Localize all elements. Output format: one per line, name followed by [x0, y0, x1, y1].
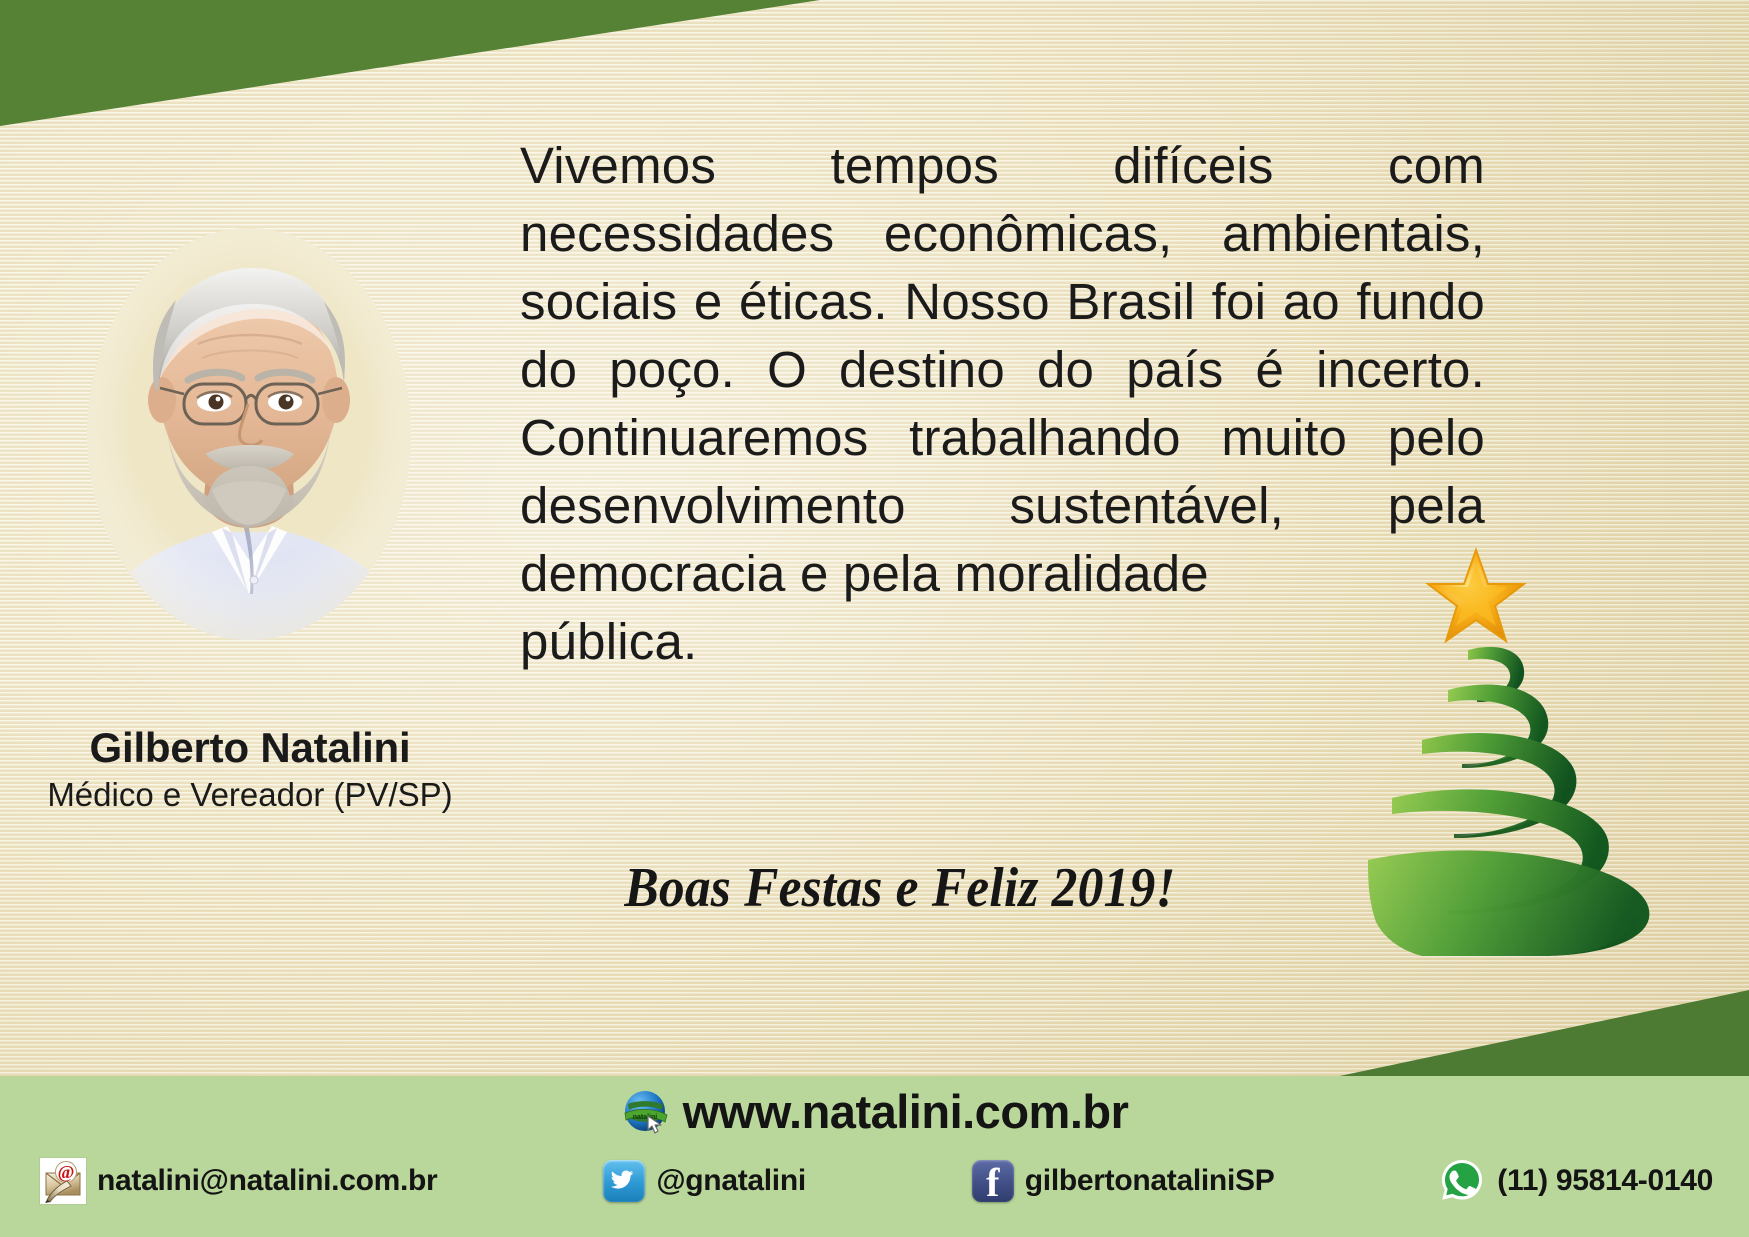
portrait-photo: [72, 228, 427, 648]
whatsapp-icon: [1440, 1158, 1486, 1204]
greeting-text: Boas Festas e Feliz 2019!: [550, 856, 1249, 920]
svg-text:@: @: [58, 1162, 75, 1182]
twitter-handle[interactable]: @gnatalini: [656, 1164, 806, 1198]
whatsapp-number[interactable]: (11) 95814-0140: [1497, 1164, 1713, 1198]
greeting-card: Gilberto Natalini Médico e Vereador (PV/…: [0, 0, 1749, 1237]
facebook-icon: f: [972, 1160, 1014, 1202]
globe-icon: natalini: [621, 1087, 671, 1137]
contact-facebook[interactable]: f gilbertonataliniSP: [972, 1160, 1275, 1202]
facebook-page[interactable]: gilbertonataliniSP: [1025, 1164, 1275, 1198]
person-name: Gilberto Natalini: [0, 724, 500, 772]
twitter-icon: [603, 1160, 645, 1202]
contact-twitter[interactable]: @gnatalini: [603, 1160, 806, 1202]
contact-whatsapp[interactable]: (11) 95814-0140: [1440, 1158, 1713, 1204]
footer-bar: natalini www.natalini.com.br: [0, 1076, 1749, 1237]
email-address[interactable]: natalini@natalini.com.br: [97, 1164, 437, 1198]
website-row[interactable]: natalini www.natalini.com.br: [0, 1084, 1749, 1139]
christmas-tree-icon: [1272, 524, 1692, 956]
website-url[interactable]: www.natalini.com.br: [683, 1084, 1129, 1139]
contact-email[interactable]: @ natalini@natalini.com.br: [40, 1158, 437, 1204]
tree-star-icon: [1428, 550, 1524, 641]
email-icon: @: [40, 1158, 86, 1204]
contacts-row: @ natalini@natalini.com.br @gnatalini f: [40, 1158, 1713, 1204]
person-role: Médico e Vereador (PV/SP): [0, 776, 500, 814]
christmas-tree-graphic: [1272, 524, 1692, 956]
tree-ribbon-band-5: [1368, 851, 1649, 956]
portrait-illustration: [72, 228, 427, 648]
